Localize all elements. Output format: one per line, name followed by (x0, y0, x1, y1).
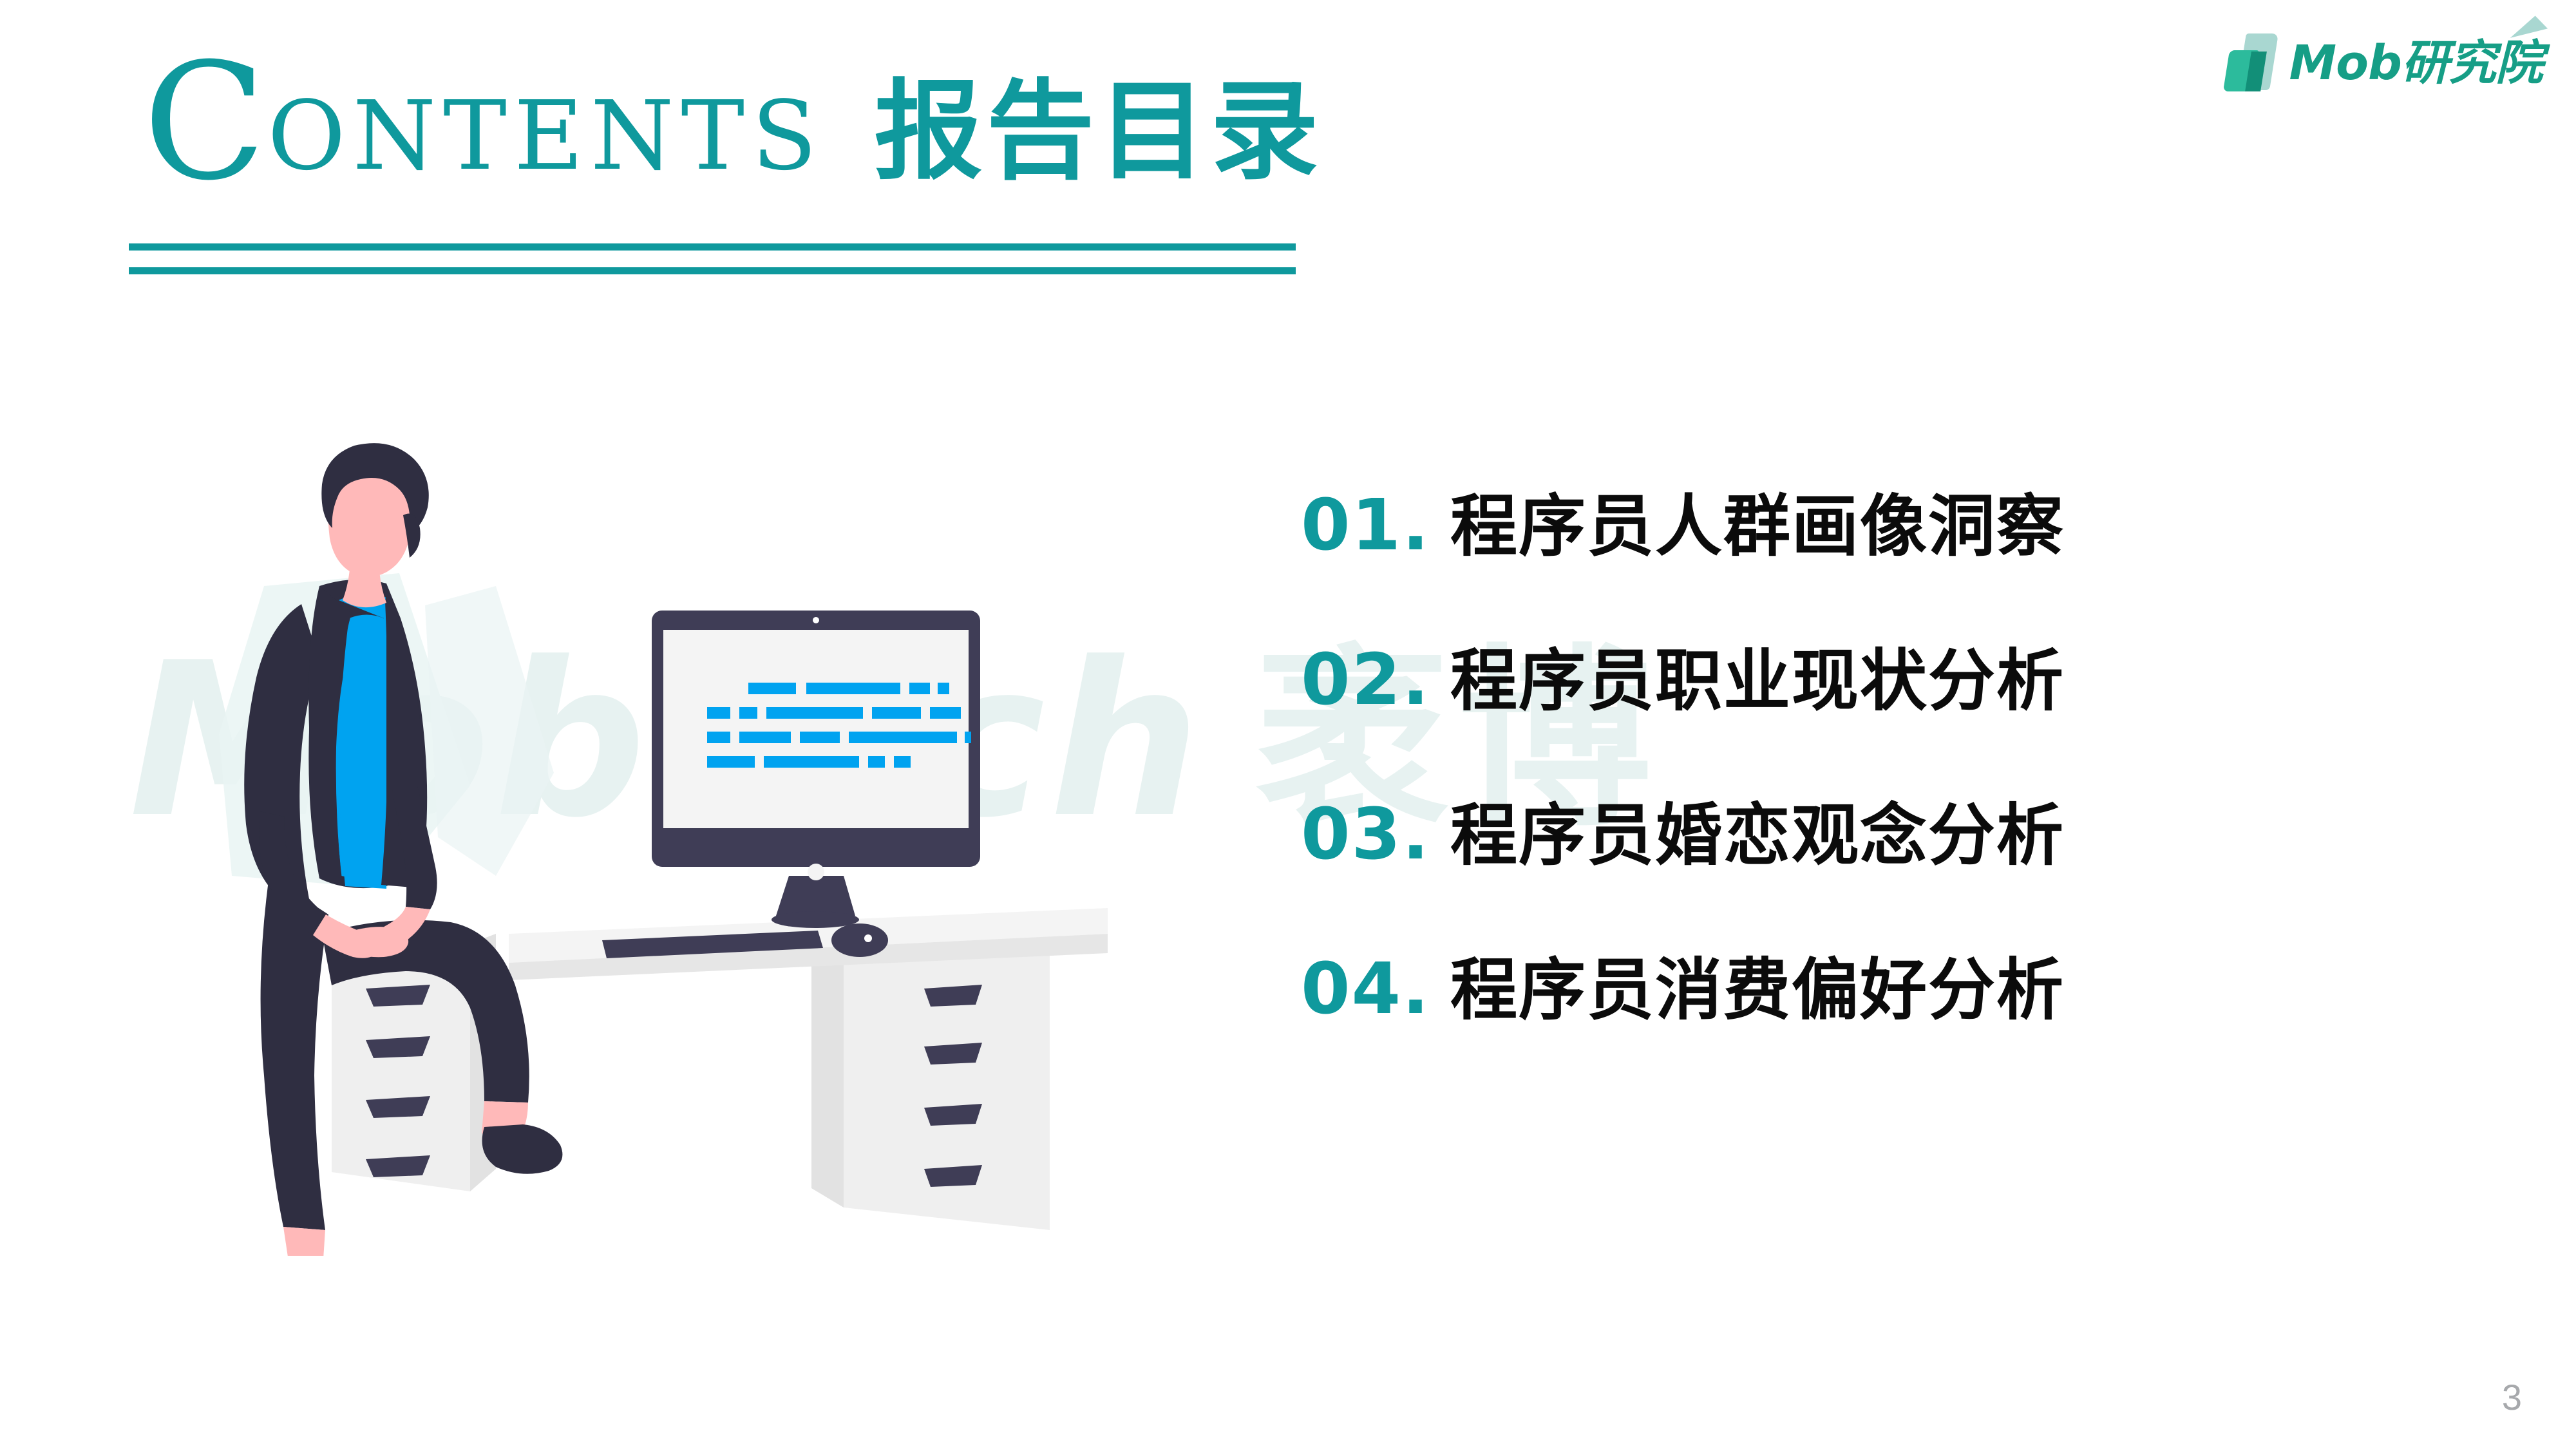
slide-contents: MobTech 袤博 C ONTENTS 报告目录 Mob研究院 (0, 0, 2576, 1449)
contents-item-02[interactable]: 02. 程序员职业现状分析 (1301, 644, 2331, 799)
contents-item-03[interactable]: 03. 程序员婚恋观念分析 (1301, 799, 2331, 953)
page-title-cjk: 报告目录 (875, 77, 1323, 185)
contents-item-01[interactable]: 01. 程序员人群画像洞察 (1301, 489, 2331, 644)
mob-bar-logo-icon (2225, 32, 2280, 94)
contents-item-label: 程序员消费偏好分析 (1450, 956, 2065, 1023)
page-title-dropcap: C (143, 54, 266, 191)
contents-item-label: 程序员人群画像洞察 (1450, 493, 2065, 560)
contents-item-number: 04. (1301, 953, 1450, 1024)
contents-item-label: 程序员职业现状分析 (1450, 647, 2065, 714)
brand-logo-text: Mob研究院 (2289, 39, 2543, 87)
monitor (652, 611, 980, 928)
contents-item-number: 01. (1301, 489, 1450, 560)
page-title-latin: ONTENTS (267, 88, 824, 184)
title-divider-line-top (129, 243, 1296, 251)
contents-list: 01. 程序员人群画像洞察 02. 程序员职业现状分析 03. 程序员婚恋观念分… (1301, 489, 2331, 1108)
contents-item-04[interactable]: 04. 程序员消费偏好分析 (1301, 953, 2331, 1108)
contents-item-label: 程序员婚恋观念分析 (1450, 802, 2065, 869)
page-number: 3 (2502, 1376, 2522, 1418)
contents-item-number: 02. (1301, 644, 1450, 715)
slide-header: C ONTENTS 报告目录 (0, 0, 2576, 270)
title-divider (129, 243, 1296, 274)
contents-item-number: 03. (1301, 799, 1450, 869)
title-divider-line-bottom (129, 267, 1296, 274)
page-title: C ONTENTS 报告目录 (143, 45, 1323, 185)
brand-logo: Mob研究院 (2225, 28, 2543, 98)
programmer-at-desk-illustration (193, 425, 1108, 1256)
